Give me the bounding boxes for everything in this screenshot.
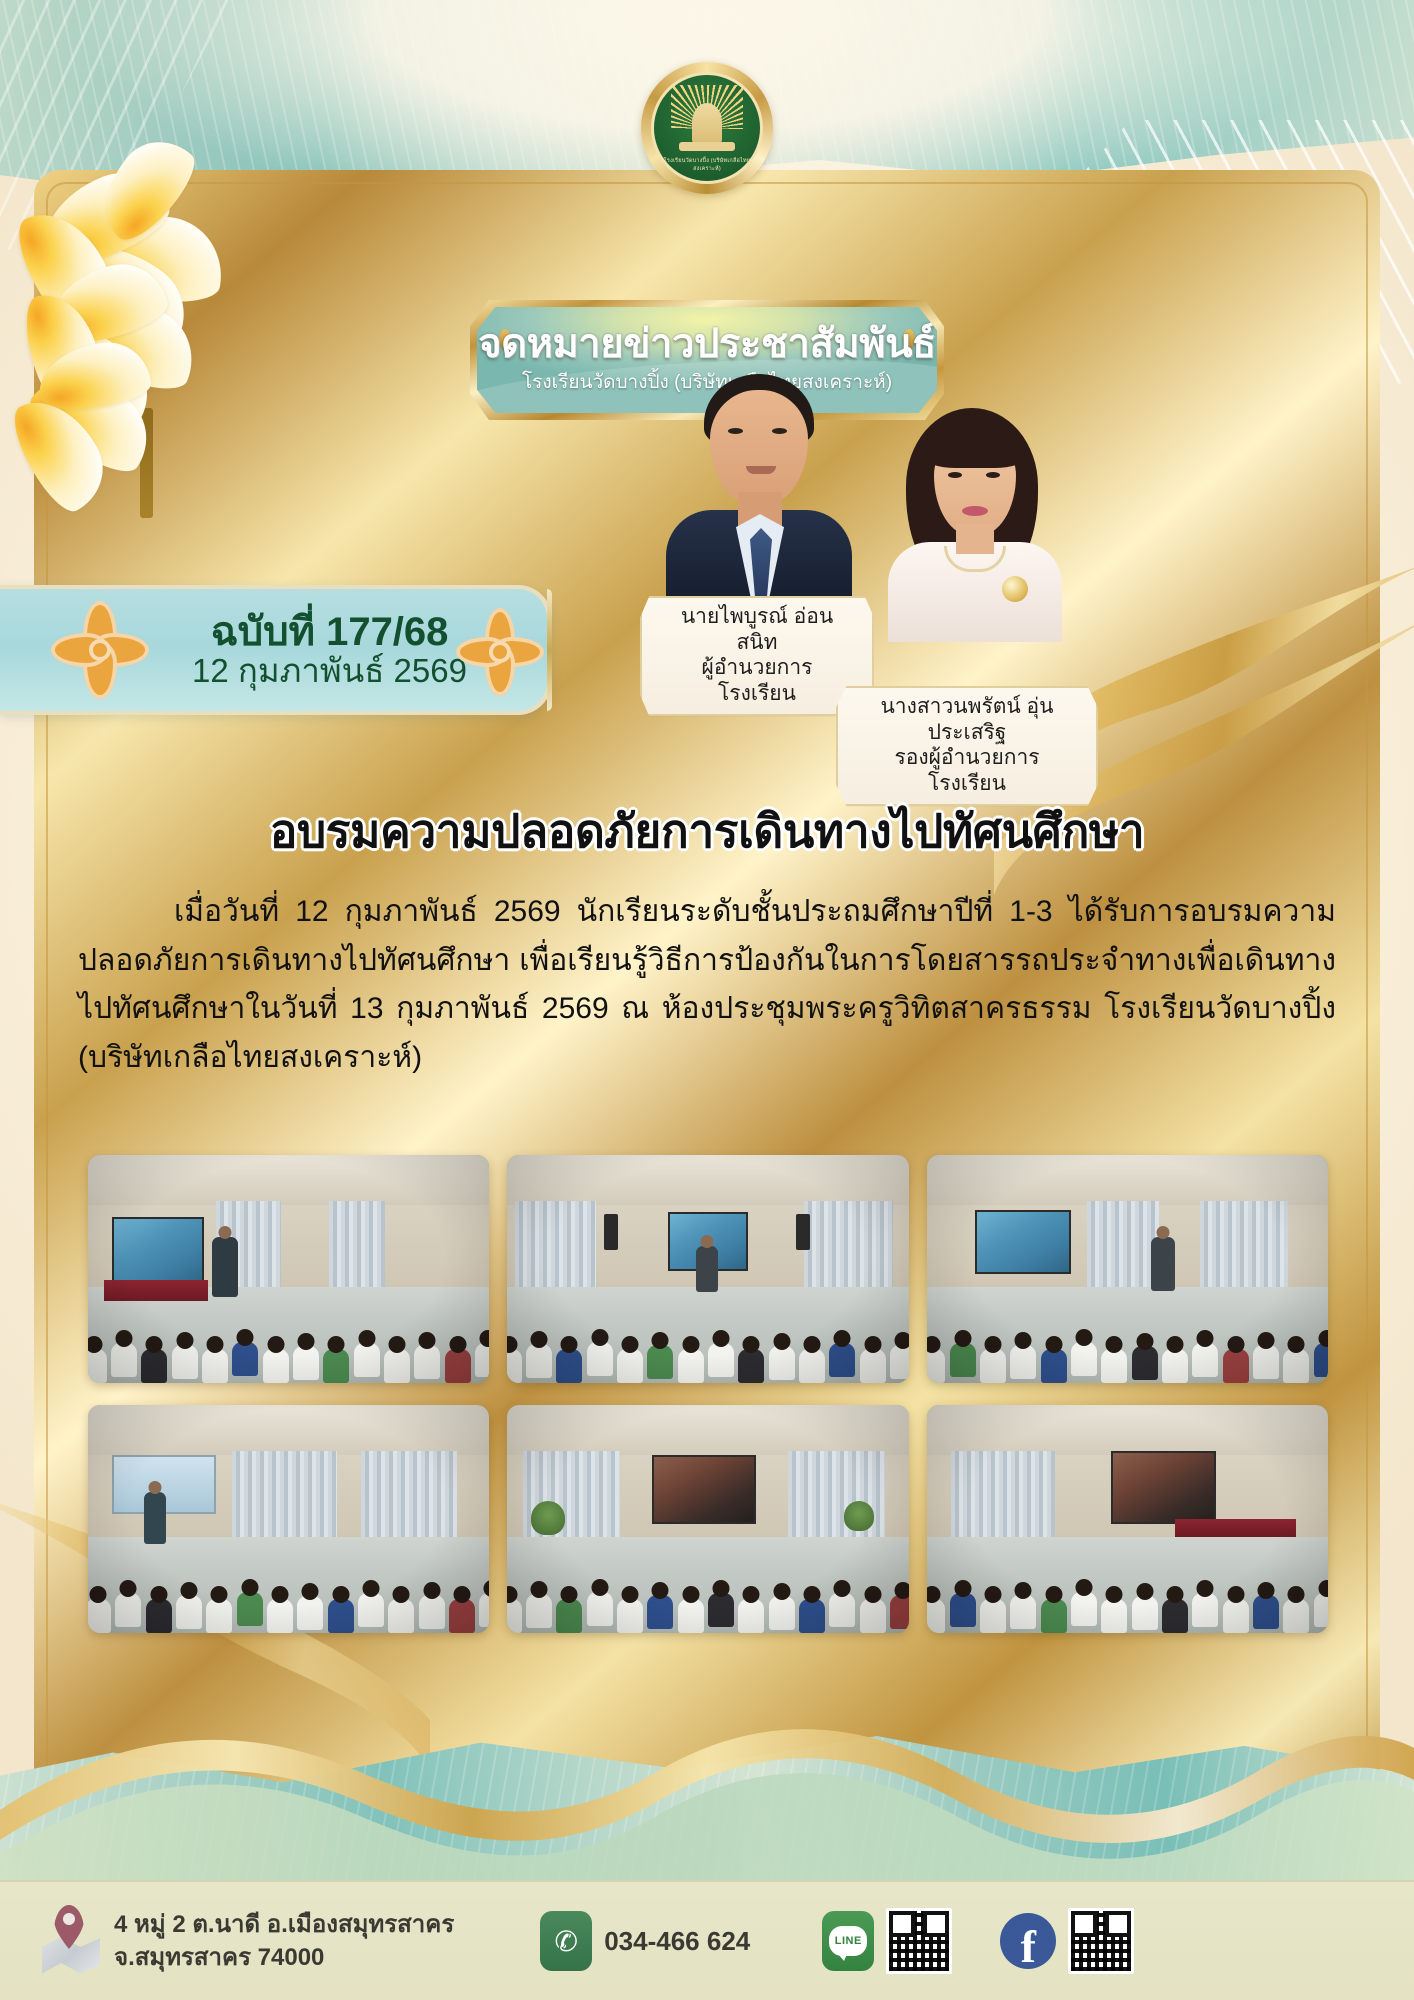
deputy-name: นางสาวนพรัตน์ อุ่นประเสริฐ xyxy=(864,694,1070,745)
line-app-icon[interactable]: LINE xyxy=(822,1911,874,1971)
flower-stem xyxy=(140,408,153,518)
article-body-text: เมื่อวันที่ 12 กุมภาพันธ์ 2569 นักเรียนร… xyxy=(78,888,1336,1082)
newsletter-poster: โรงเรียนวัดบางปิ้ง (บริษัทเกลือไทยสงเครา… xyxy=(0,0,1414,2000)
article-headline: อบรมความปลอดภัยการเดินทางไปทัศนศึกษา xyxy=(0,795,1414,868)
director-name: นายไพบูรณ์ อ่อนสนิท xyxy=(668,604,846,655)
phone-icon: ✆ xyxy=(540,1911,592,1971)
director-role: ผู้อำนวยการโรงเรียน xyxy=(668,655,846,706)
deputy-name-plate: นางสาวนพรัตน์ อุ่นประเสริฐ รองผู้อำนวยกา… xyxy=(836,686,1098,806)
director-name-plate: นายไพบูรณ์ อ่อนสนิท ผู้อำนวยการโรงเรียน xyxy=(640,596,874,716)
school-emblem-icon: โรงเรียนวัดบางปิ้ง (บริษัทเกลือไทยสงเครา… xyxy=(641,62,773,194)
article-body: เมื่อวันที่ 12 กุมภาพันธ์ 2569 นักเรียนร… xyxy=(78,888,1336,1082)
footer-contact-bar: 4 หมู่ 2 ต.นาดี อ.เมืองสมุทรสาคร จ.สมุทร… xyxy=(0,1880,1414,2000)
facebook-icon[interactable]: f xyxy=(1000,1913,1056,1969)
gallery-photo-1[interactable] xyxy=(88,1155,489,1383)
deputy-director-portrait xyxy=(876,400,1072,642)
line-qr-code[interactable] xyxy=(886,1908,952,1974)
line-label: LINE xyxy=(829,1926,867,1956)
page-title: จดหมายข่าวประชาสัมพันธ์ xyxy=(478,323,936,365)
gallery-photo-5[interactable] xyxy=(507,1405,908,1633)
gallery-photo-2[interactable] xyxy=(507,1155,908,1383)
brooch-icon xyxy=(1002,576,1028,602)
address-line-2: จ.สมุทรสาคร 74000 xyxy=(114,1941,454,1974)
thai-floral-ornament-icon xyxy=(54,604,146,696)
gallery-photo-6[interactable] xyxy=(927,1405,1328,1633)
facebook-label: f xyxy=(1021,1925,1036,1969)
director-portrait xyxy=(660,368,856,598)
gallery-photo-4[interactable] xyxy=(88,1405,489,1633)
facebook-qr-code[interactable] xyxy=(1068,1908,1134,1974)
deputy-role: รองผู้อำนวยการโรงเรียน xyxy=(864,745,1070,796)
photo-gallery xyxy=(88,1155,1328,1633)
gallery-photo-3[interactable] xyxy=(927,1155,1328,1383)
address-line-1: 4 หมู่ 2 ต.นาดี อ.เมืองสมุทรสาคร xyxy=(114,1908,454,1941)
phone-number: 034-466 624 xyxy=(604,1926,750,1957)
emblem-buddha-icon xyxy=(692,103,722,145)
location-pin-icon xyxy=(40,1905,102,1977)
thai-floral-ornament-icon-right xyxy=(457,609,543,695)
issue-badge: ฉบับที่ 177/68 12 กุมภาพันธ์ 2569 xyxy=(0,585,552,715)
plumeria-flower-icon-3 xyxy=(0,330,206,530)
emblem-base xyxy=(679,142,735,151)
plumeria-flower-icon-2 xyxy=(2,222,262,452)
emblem-ribbon-text: โรงเรียนวัดบางปิ้ง (บริษัทเกลือไทยสงเครา… xyxy=(654,157,760,173)
